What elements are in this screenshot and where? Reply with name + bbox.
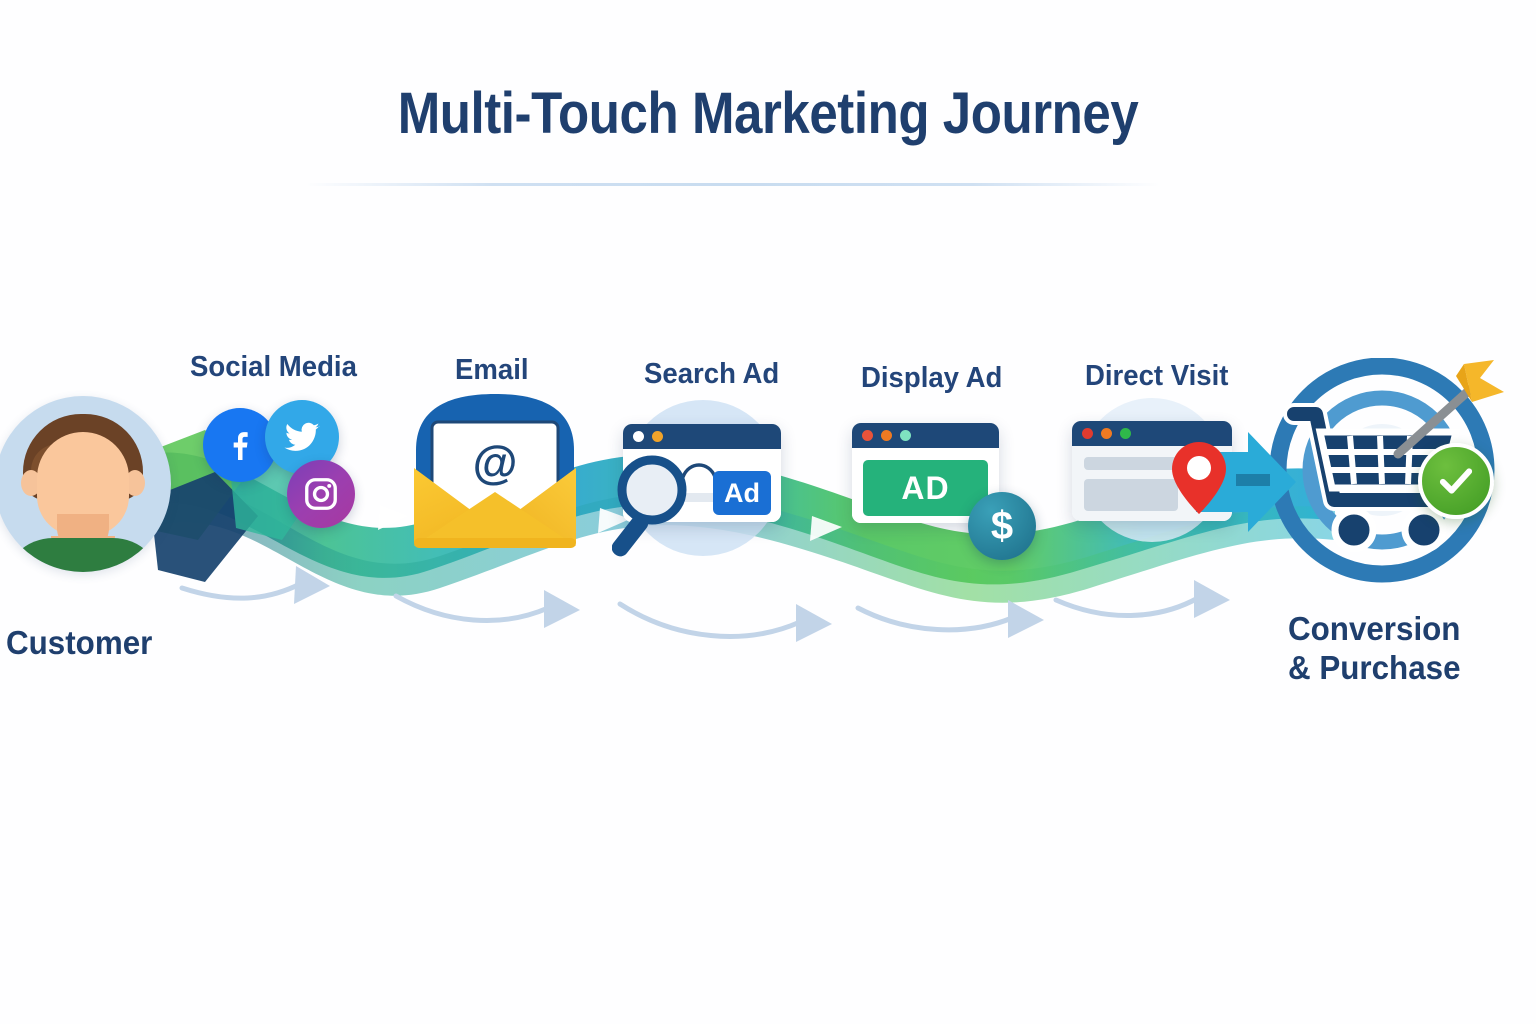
dollar-coin-icon: $: [968, 492, 1036, 560]
final-arrow-notch: [1236, 474, 1270, 486]
map-pin-icon: [1168, 440, 1230, 516]
diagram-canvas: Multi-Touch Marketing Journey: [0, 0, 1536, 1024]
check-glyph: [1435, 460, 1477, 502]
magnifier-handle: [612, 511, 651, 559]
magnifier-lens: [622, 460, 682, 520]
check-circle-icon: [1418, 443, 1494, 519]
avatar-shirt: [3, 538, 163, 572]
twitter-glyph: [281, 416, 323, 458]
magnifier-icon: [612, 452, 704, 560]
map-pin-hole: [1187, 456, 1211, 480]
final-arrow-icon: [0, 0, 1536, 1024]
customer-avatar[interactable]: [0, 396, 171, 572]
instagram-glyph: [302, 475, 340, 513]
instagram-icon[interactable]: [287, 460, 355, 528]
